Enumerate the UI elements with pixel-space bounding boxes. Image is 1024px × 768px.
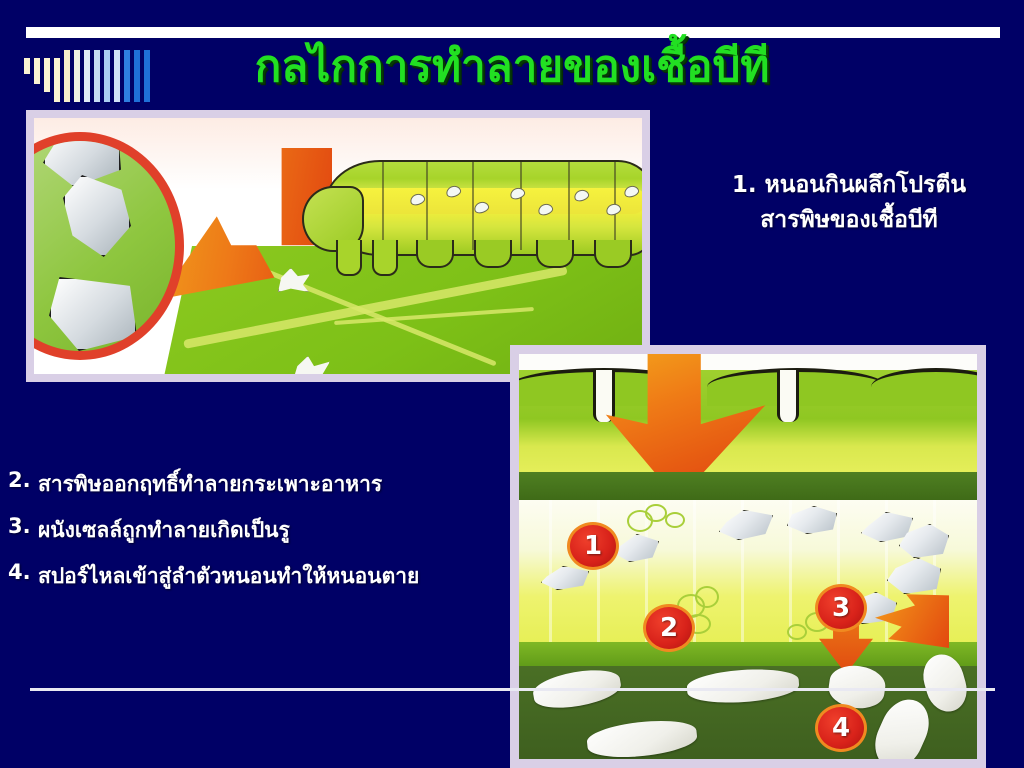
caterpillar-proleg <box>416 240 454 268</box>
caterpillar-leg <box>372 240 398 276</box>
cell-gap <box>593 370 615 422</box>
protein-crystal <box>63 175 131 257</box>
step-1-line-2: สารพิษของเชื้อบีที <box>684 203 1014 238</box>
caterpillar-segment <box>568 162 570 250</box>
list-item-text: ผนังเซลล์ถูกทำลายเกิดเป็นรู <box>38 514 528 547</box>
figure1-canvas <box>34 118 642 374</box>
caterpillar-stripe <box>346 188 642 214</box>
toxin-squiggle <box>645 504 667 522</box>
marker-3: 3 <box>815 584 867 632</box>
villus-crown <box>871 368 977 406</box>
top-divider-rule <box>26 27 1000 38</box>
caterpillar-segment <box>520 162 522 250</box>
step-1-line-1: 1. หนอนกินผลึกโปรตีน <box>684 168 1014 203</box>
caterpillar-proleg <box>474 240 512 268</box>
marker-1: 1 <box>567 522 619 570</box>
cell-gap <box>777 370 799 422</box>
caterpillar <box>324 160 642 300</box>
marker-2: 2 <box>643 604 695 652</box>
list-item-number: 4. <box>8 560 38 584</box>
caterpillar-segment <box>426 162 428 250</box>
list-item-number: 3. <box>8 514 38 538</box>
toxin-squiggle <box>695 586 719 608</box>
figure-gut-cross-section: 1 2 3 4 <box>510 345 986 768</box>
figure-caterpillar-eating-leaf <box>26 110 650 382</box>
step-1-text: 1. หนอนกินผลึกโปรตีน สารพิษของเชื้อบีที <box>684 168 1014 237</box>
caterpillar-segment <box>382 162 384 250</box>
toxin-squiggle <box>665 512 685 528</box>
bottom-divider-rule <box>30 688 995 691</box>
list-item: 2.สารพิษออกฤทธิ์ทำลายกระเพาะอาหาร <box>8 468 528 501</box>
list-item-text: สารพิษออกฤทธิ์ทำลายกระเพาะอาหาร <box>38 468 528 501</box>
marker-4: 4 <box>815 704 867 752</box>
presentation-slide: กลไกการทำลายของเชื้อบีที <box>0 0 1024 768</box>
basal-membrane-layer <box>519 472 977 500</box>
caterpillar-proleg <box>594 240 632 268</box>
toxin-squiggle <box>787 624 807 640</box>
steps-list: 2.สารพิษออกฤทธิ์ทำลายกระเพาะอาหาร3.ผนังเ… <box>8 468 528 606</box>
figure2-canvas: 1 2 3 4 <box>519 354 977 759</box>
caterpillar-proleg <box>536 240 574 268</box>
caterpillar-leg <box>336 240 362 276</box>
list-item: 3.ผนังเซลล์ถูกทำลายเกิดเป็นรู <box>8 514 528 547</box>
list-item-text: สปอร์ไหลเข้าสู่ลำตัวหนอนทำให้หนอนตาย <box>38 560 528 593</box>
list-item: 4.สปอร์ไหลเข้าสู่ลำตัวหนอนทำให้หนอนตาย <box>8 560 528 593</box>
slide-title: กลไกการทำลายของเชื้อบีที <box>0 44 1024 90</box>
protein-crystal <box>49 277 137 351</box>
cell-wall-layer <box>519 642 977 668</box>
list-item-number: 2. <box>8 468 38 492</box>
